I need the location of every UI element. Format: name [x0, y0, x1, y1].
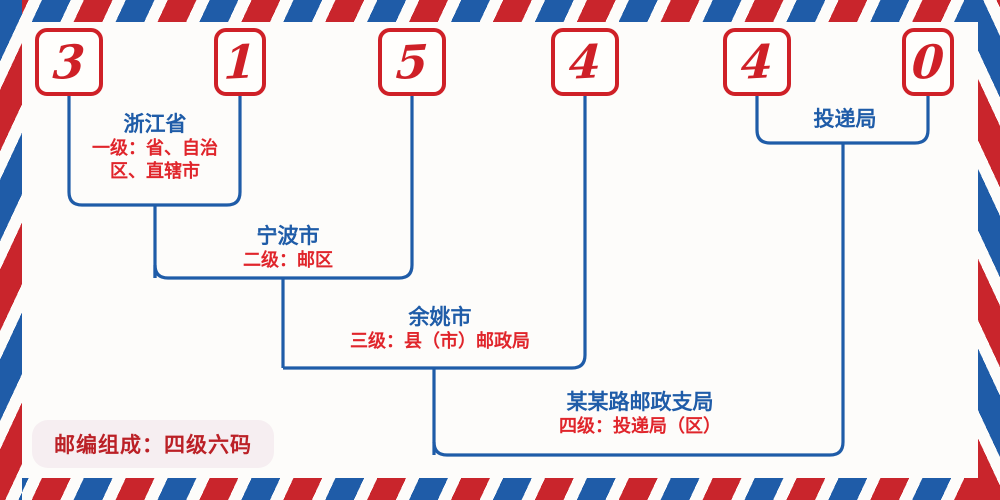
digit-glyph: 4	[740, 38, 775, 86]
digit-glyph: 4	[568, 38, 603, 86]
level-2-title: 宁波市	[188, 224, 388, 249]
level-4-subtitle: 四级：投递局（区）	[505, 415, 775, 438]
level-4-label: 某某路邮政支局 四级：投递局（区）	[505, 390, 775, 438]
postcode-digit-6[interactable]: 0	[902, 28, 954, 96]
level-1-label: 浙江省 一级：省、自治区、直辖市	[80, 112, 230, 183]
digit-glyph: 0	[911, 38, 946, 86]
level-3-subtitle: 三级：县（市）邮政局	[305, 330, 575, 353]
level-2-subtitle: 二级：邮区	[188, 249, 388, 272]
level-1-title: 浙江省	[80, 112, 230, 137]
level-2-label: 宁波市 二级：邮区	[188, 224, 388, 272]
level-3-label: 余姚市 三级：县（市）邮政局	[305, 305, 575, 353]
postcode-digit-1[interactable]: 3	[35, 28, 103, 96]
postcode-digit-3[interactable]: 5	[378, 28, 446, 96]
postcode-digit-4[interactable]: 4	[551, 28, 619, 96]
postcode-digit-5[interactable]: 4	[723, 28, 791, 96]
delivery-office-title: 投递局	[760, 107, 930, 132]
postcode-digit-2[interactable]: 1	[214, 28, 266, 96]
delivery-office-label: 投递局	[760, 107, 930, 132]
digit-glyph: 1	[223, 38, 258, 86]
postcode-diagram-canvas: 3 1 5 4 4 0 浙江省 一级：省、自治区、直辖市 宁波市 二级：邮区 余…	[0, 0, 1000, 500]
level-4-title: 某某路邮政支局	[505, 390, 775, 415]
level-3-title: 余姚市	[305, 305, 575, 330]
legend-badge: 邮编组成：四级六码	[32, 420, 274, 468]
level-1-subtitle: 一级：省、自治区、直辖市	[80, 137, 230, 183]
legend-badge-text: 邮编组成：四级六码	[54, 432, 252, 457]
digit-glyph: 3	[52, 38, 87, 86]
digit-glyph: 5	[395, 38, 430, 86]
